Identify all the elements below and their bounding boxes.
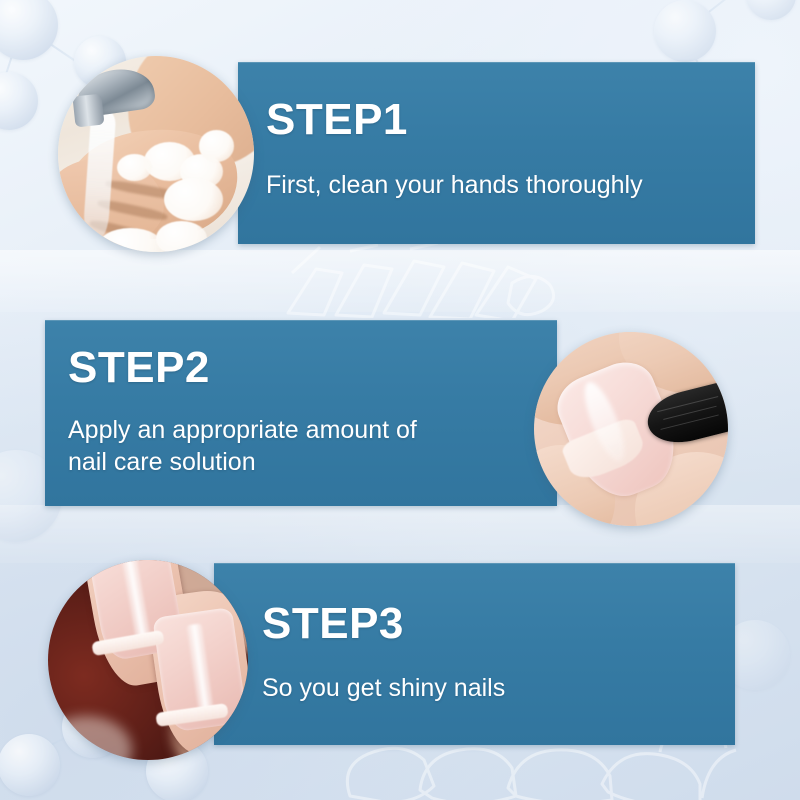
step-1-bar bbox=[238, 62, 755, 244]
step-3-title: STEP3 bbox=[262, 602, 404, 646]
step-1-title-text: STEP1 bbox=[266, 95, 408, 144]
mid-line-art-pattern bbox=[280, 243, 580, 318]
nail-brush-photo-content bbox=[534, 332, 728, 526]
infographic-canvas: STEP1 First, clean your hands thoroughly bbox=[0, 0, 800, 800]
step-1-description: First, clean your hands thoroughly bbox=[266, 169, 643, 201]
step-1-description-text: First, clean your hands thoroughly bbox=[266, 171, 643, 199]
step-2-photo bbox=[534, 332, 728, 526]
step-2-title-text: STEP2 bbox=[68, 343, 210, 392]
step-3-bar bbox=[214, 563, 735, 745]
step-2-title: STEP2 bbox=[68, 346, 210, 390]
step-1-photo bbox=[58, 56, 254, 252]
step-2-description-line-2: nail care solution bbox=[68, 446, 528, 478]
step-3-title-text: STEP3 bbox=[262, 599, 404, 648]
step-2-description: Apply an appropriate amount of nail care… bbox=[68, 414, 528, 478]
step-3-description: So you get shiny nails bbox=[262, 672, 505, 704]
step-3-photo bbox=[48, 560, 248, 760]
step-2-description-line-1: Apply an appropriate amount of bbox=[68, 414, 528, 446]
handwash-photo-content bbox=[58, 56, 254, 252]
shiny-nails-photo-content bbox=[48, 560, 248, 760]
step-3-description-text: So you get shiny nails bbox=[262, 674, 505, 702]
step-1-title: STEP1 bbox=[266, 98, 408, 142]
